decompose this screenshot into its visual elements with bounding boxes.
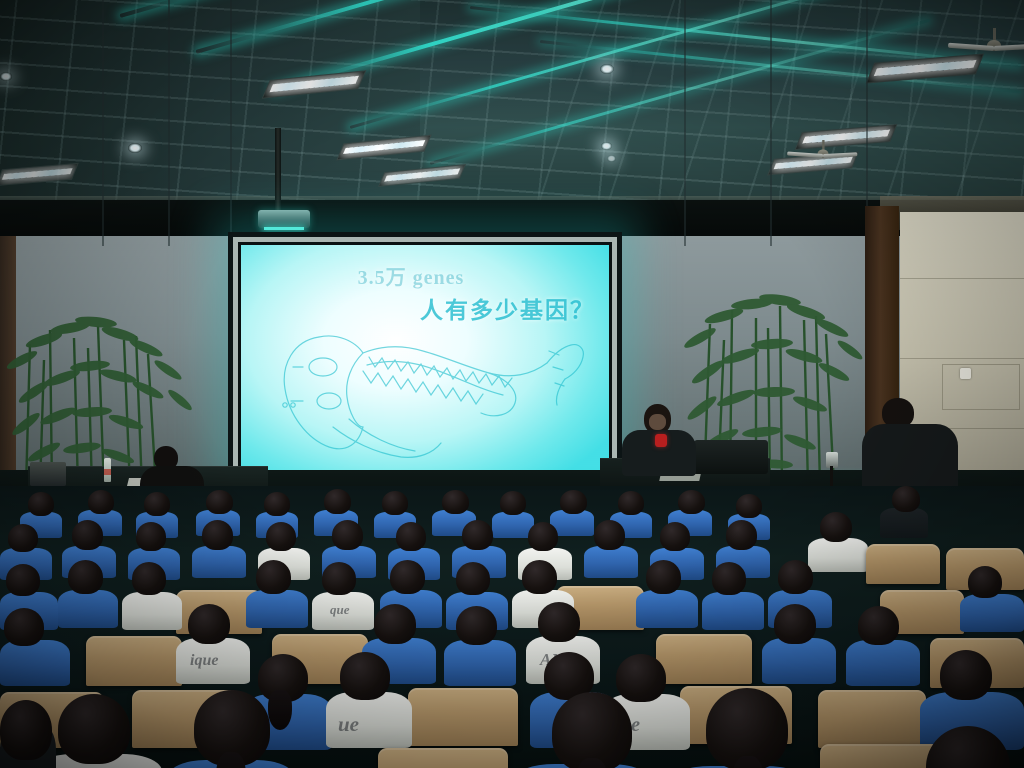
attendee-head <box>892 486 920 512</box>
student-head <box>58 694 130 764</box>
slide-diagram <box>263 323 593 461</box>
student-head <box>646 560 681 594</box>
projection-screen-frame: 3.5万 genes 人有多少基因？ <box>228 232 622 484</box>
auditorium-seat[interactable] <box>866 544 940 584</box>
student-head <box>726 520 757 550</box>
student-torso <box>702 592 764 630</box>
student-head <box>442 490 469 514</box>
ceiling-mounted-projector <box>258 210 310 228</box>
seated-panelist-left <box>140 446 204 490</box>
student-torso <box>246 590 308 628</box>
student-head <box>256 560 291 594</box>
student-head <box>340 652 390 700</box>
student-head <box>774 604 816 644</box>
shirt-print: que <box>330 602 350 618</box>
student-head <box>940 650 992 700</box>
student-head <box>28 492 54 516</box>
student-head <box>456 606 497 645</box>
slide-title-english: 3.5万 genes <box>241 261 595 290</box>
student-head <box>616 654 666 702</box>
student-head <box>202 520 233 550</box>
student-head <box>68 560 103 594</box>
student-head <box>618 491 644 515</box>
student-head <box>374 604 416 644</box>
shirt-print: ue <box>338 712 359 737</box>
downlight-3 <box>601 142 612 150</box>
student-torso <box>846 640 920 686</box>
shirt-print: ique <box>190 652 218 670</box>
student-head <box>678 490 705 514</box>
student-head <box>4 608 44 646</box>
student-head <box>500 491 526 515</box>
wall-panel-1 <box>16 0 104 246</box>
student-head <box>8 524 38 552</box>
attendee-torso <box>880 508 928 538</box>
student-head <box>332 520 363 550</box>
student-head <box>736 494 762 518</box>
auditorium-seat[interactable] <box>86 636 182 686</box>
seated-speaker <box>622 404 696 474</box>
student-head <box>560 490 587 514</box>
student-head <box>820 512 852 542</box>
wall-panel-3 <box>168 0 232 246</box>
student-head <box>390 560 425 594</box>
student-head <box>136 522 166 551</box>
student-ponytail <box>268 690 292 730</box>
student-torso <box>192 546 246 578</box>
floor-speaker <box>30 462 66 486</box>
lecture-hall-photo: 3.5万 genes 人有多少基因？ <box>0 0 1024 768</box>
student-head <box>660 522 690 551</box>
student-torso <box>584 546 638 578</box>
student-torso <box>444 640 516 686</box>
student-head <box>0 700 52 760</box>
auditorium-seat[interactable] <box>378 748 508 768</box>
student-head <box>266 522 296 551</box>
student-torso <box>122 592 182 630</box>
student-head <box>396 522 426 551</box>
slide-title-chinese: 人有多少基因？ <box>420 291 595 325</box>
student-head <box>206 490 233 514</box>
wall-panel-6 <box>770 0 868 246</box>
student-head <box>858 606 899 645</box>
wall-panel-5 <box>684 0 772 246</box>
student-torso <box>762 638 836 684</box>
student-head <box>72 520 103 550</box>
student-head <box>6 564 40 596</box>
student-head <box>712 562 746 595</box>
projection-screen: 3.5万 genes 人有多少基因？ <box>241 245 609 471</box>
student-head <box>144 492 170 516</box>
student-head <box>528 522 558 551</box>
student-torso <box>0 640 70 686</box>
audience-seating: que ique ANO <box>0 486 1024 768</box>
dark-monitor <box>694 440 768 474</box>
student-head <box>594 520 625 550</box>
student-torso <box>58 590 118 628</box>
downlight-5 <box>0 72 12 81</box>
student-head <box>552 692 632 768</box>
student-head <box>322 562 356 595</box>
student-head <box>382 491 408 515</box>
student-head <box>456 562 490 595</box>
student-head <box>538 602 580 642</box>
student-head <box>132 562 166 595</box>
student-head <box>88 490 114 514</box>
student-head <box>188 604 230 644</box>
water-bottle-left <box>104 458 111 482</box>
student-torso <box>636 590 698 628</box>
auditorium-seat[interactable] <box>818 690 926 748</box>
wall-panel-4 <box>612 0 686 246</box>
student-head <box>968 566 1002 598</box>
projector-drop-pole <box>275 128 281 214</box>
student-torso <box>960 594 1024 632</box>
student-head <box>522 560 557 594</box>
auditorium-seat[interactable] <box>408 688 518 746</box>
student-head <box>778 560 813 594</box>
student-head <box>324 489 351 514</box>
wall-switch[interactable] <box>960 368 971 379</box>
student-head <box>462 520 493 550</box>
auditorium-seat[interactable] <box>656 634 752 684</box>
student-head <box>264 492 290 516</box>
wall-panel-2 <box>102 0 170 246</box>
student-torso <box>808 538 868 572</box>
